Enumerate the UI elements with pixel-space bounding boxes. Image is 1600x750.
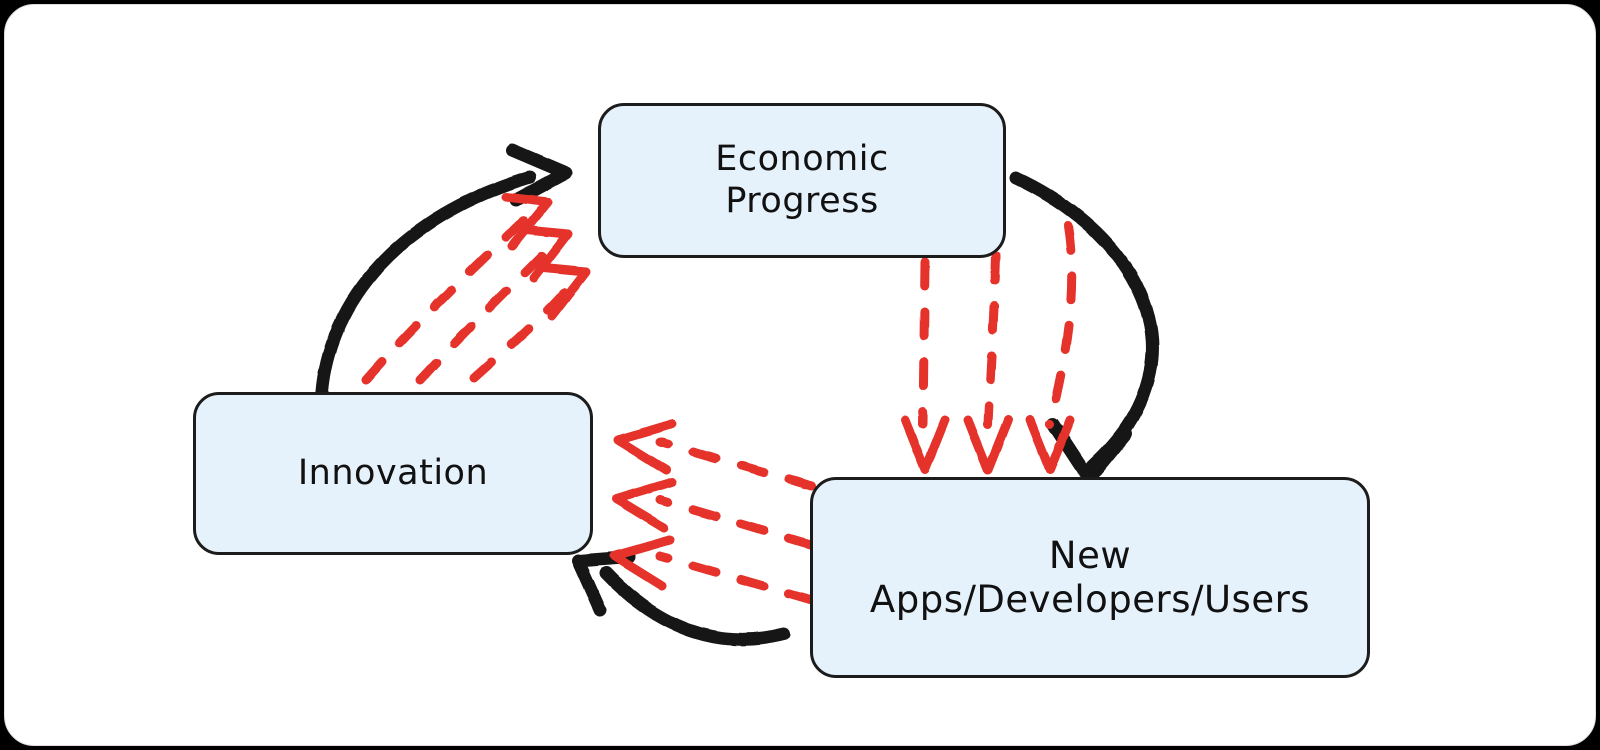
edge-newapps-to-innovation (578, 557, 784, 639)
node-economic-progress[interactable]: Economic Progress (598, 103, 1006, 258)
node-economic-progress-label: Economic Progress (715, 139, 888, 222)
diagram-canvas: Economic Progress Innovation New Apps/De… (0, 0, 1600, 750)
edge-innovation-to-economic-dashed (366, 197, 586, 380)
node-innovation-label: Innovation (298, 453, 488, 494)
node-innovation[interactable]: Innovation (193, 392, 593, 555)
node-new-apps-label: New Apps/Developers/Users (870, 534, 1310, 621)
node-new-apps[interactable]: New Apps/Developers/Users (810, 477, 1370, 678)
edge-economic-to-newapps-dashed (905, 226, 1072, 470)
edge-newapps-to-innovation-dashed (614, 424, 812, 600)
